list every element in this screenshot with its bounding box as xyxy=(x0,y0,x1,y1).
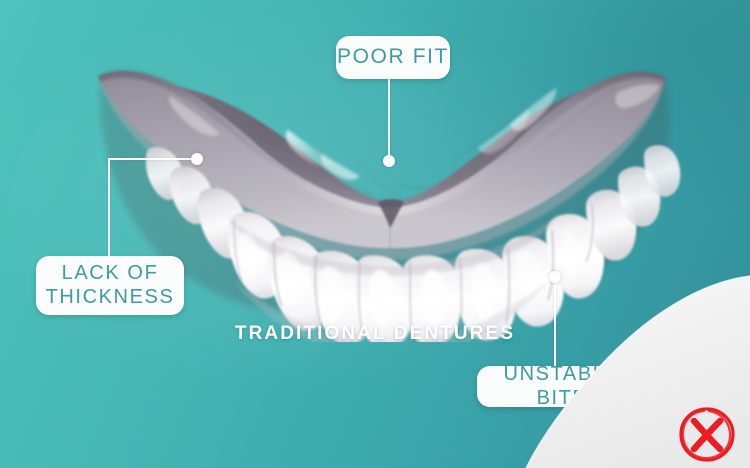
leader-line-lack-of-thickness-vertical xyxy=(108,159,110,257)
callout-lack-line-1: LACK OF xyxy=(62,262,159,284)
callout-lack-line-2: THICKNESS xyxy=(46,286,175,308)
callout-lack-of-thickness-label: LACK OF THICKNESS xyxy=(46,262,175,308)
callout-lack-of-thickness[interactable]: LACK OF THICKNESS xyxy=(36,256,184,315)
marker-dot-lack-of-thickness xyxy=(191,153,203,165)
leader-line-poor-fit xyxy=(388,79,390,161)
leader-line-lack-of-thickness-horizontal xyxy=(108,158,198,160)
page-title: TRADITIONAL DENTURES xyxy=(0,323,750,345)
callout-unstable-bite[interactable]: UNSTABLE BITE xyxy=(477,366,647,407)
marker-dot-unstable-bite xyxy=(549,271,561,283)
callout-poor-fit[interactable]: POOR FIT xyxy=(336,36,450,79)
marker-dot-poor-fit xyxy=(383,155,395,167)
callout-unstable-bite-label: UNSTABLE BITE xyxy=(477,363,647,409)
callout-poor-fit-label: POOR FIT xyxy=(337,45,449,69)
infographic-canvas: POOR FIT LACK OF THICKNESS UNSTABLE BITE… xyxy=(0,0,750,468)
x-mark-badge xyxy=(676,404,738,466)
